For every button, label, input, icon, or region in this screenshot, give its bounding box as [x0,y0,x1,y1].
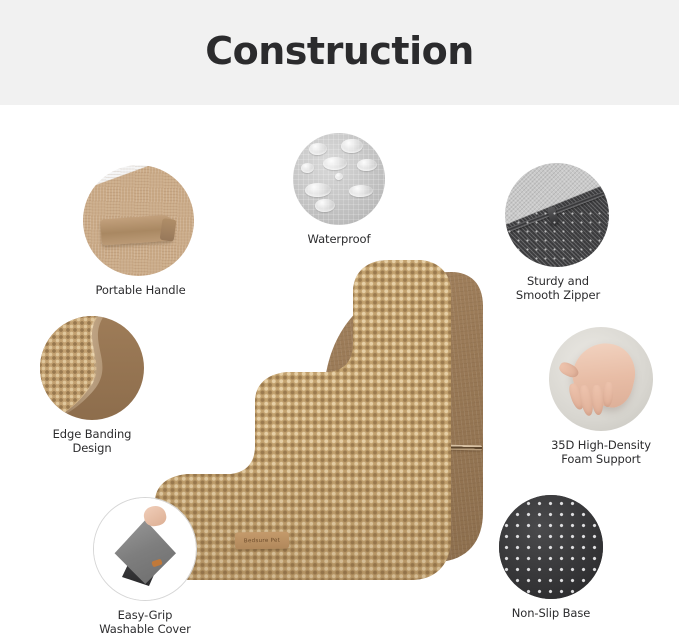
header-band: Construction [0,0,679,105]
dotted-grip-base-icon [499,495,603,599]
hand-pressing-foam-icon [549,327,653,431]
feature-callout-washable-cover: Easy-Grip Washable Cover [89,497,201,636]
feature-label-non-slip-base: Non-Slip Base [495,606,607,620]
cover-cloth [112,520,176,584]
hand-lifting-cover-icon [94,498,196,600]
product-feature-stage: Bedsure Pet Portable Handle Waterp [0,105,679,627]
feature-callout-zipper: Sturdy and Smooth Zipper [505,163,611,302]
water-drop [315,199,335,212]
feature-label-portable-handle: Portable Handle [83,283,198,297]
foam-support-photo [549,327,653,431]
waterproof-photo [293,133,385,225]
feature-label-foam-support: 35D High-Density Foam Support [545,438,657,466]
water-drop [341,139,363,153]
feature-callout-edge-banding: Edge Banding Design [37,316,147,455]
feature-label-edge-banding: Edge Banding Design [37,427,147,455]
edge-banding-photo [40,316,144,420]
feature-callout-non-slip-base: Non-Slip Base [495,495,607,620]
zipper-photo [505,163,609,267]
zipper-icon [505,163,609,267]
water-drop [349,185,373,197]
feature-callout-waterproof: Waterproof [288,133,390,246]
non-slip-base-photo [499,495,603,599]
page-title: Construction [0,29,679,73]
water-droplets-icon [293,133,385,225]
feature-callout-portable-handle: Portable Handle [83,165,198,297]
zipper-pull-tab [547,206,559,225]
portable-handle-photo [83,165,194,276]
edge-seam-icon [40,316,144,420]
water-drop [305,183,331,197]
handle-strap-shape [100,215,174,246]
washable-cover-photo [93,497,197,601]
feature-label-zipper: Sturdy and Smooth Zipper [505,274,611,302]
brand-label-tag: Bedsure Pet [235,532,289,550]
water-drop [309,143,327,155]
feature-label-waterproof: Waterproof [288,232,390,246]
water-drop [323,157,347,170]
water-drop [335,173,343,180]
feature-label-washable-cover: Easy-Grip Washable Cover [89,608,201,636]
feature-callout-foam-support: 35D High-Density Foam Support [545,327,657,466]
zipper-teeth-line [505,188,609,234]
handle-strap-icon [83,165,194,276]
water-drop [301,163,314,173]
water-drop [357,159,377,171]
